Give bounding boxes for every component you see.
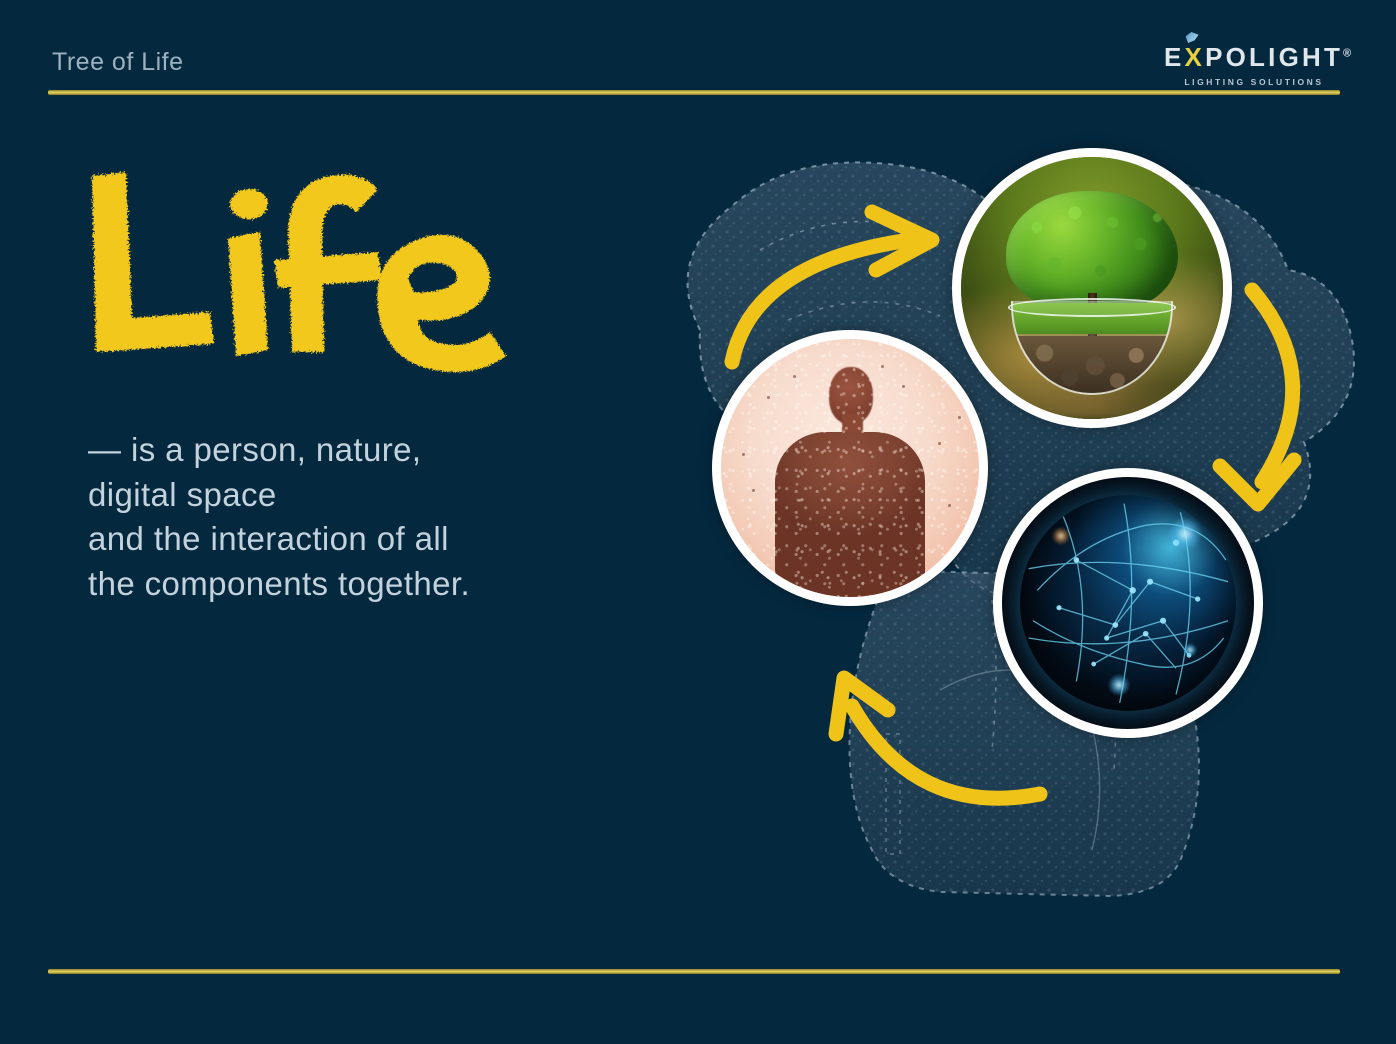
life-cycle-diagram [640,130,1396,930]
header-divider-rule [48,90,1340,95]
logo-tagline: LIGHTING SOLUTIONS [1164,77,1344,87]
logo-letter-x-accent: X [1185,42,1206,72]
footer-divider-rule [48,969,1340,974]
slide-header: Tree of Life EXPOLIGHT® LIGHTING SOLUTIO… [0,0,1396,110]
person-image [721,339,979,597]
diagram-node-digital-space[interactable] [993,468,1263,738]
logo-wordmark: EXPOLIGHT® [1164,44,1351,70]
logo-letters-rest: POLIGHT [1205,42,1343,72]
diagram-node-nature[interactable] [952,148,1232,428]
headline-life-brush-text [78,160,598,375]
diagram-node-person[interactable] [712,330,988,606]
tree-in-glass-bowl-artwork [961,157,1223,419]
headline-block [78,160,598,375]
body-copy: — is a person, nature, digital space and… [88,428,688,606]
digital-globe-image [1002,477,1254,729]
network-globe-artwork [1002,477,1254,729]
arrow-nature-to-digital [1220,290,1294,504]
body-line-1: — is a person, nature, [88,428,688,473]
particle-human-silhouette-artwork [721,339,979,597]
nature-image [961,157,1223,419]
body-line-4: the components together. [88,562,688,607]
slide-root: Tree of Life EXPOLIGHT® LIGHTING SOLUTIO… [0,0,1396,1044]
page-title: Tree of Life [52,48,184,77]
logo-letter-e: E [1164,42,1185,72]
body-line-3: and the interaction of all [88,517,688,562]
registered-trademark-icon: ® [1343,47,1351,59]
body-line-2: digital space [88,473,688,518]
brand-logo: EXPOLIGHT® LIGHTING SOLUTIONS [1164,44,1344,87]
